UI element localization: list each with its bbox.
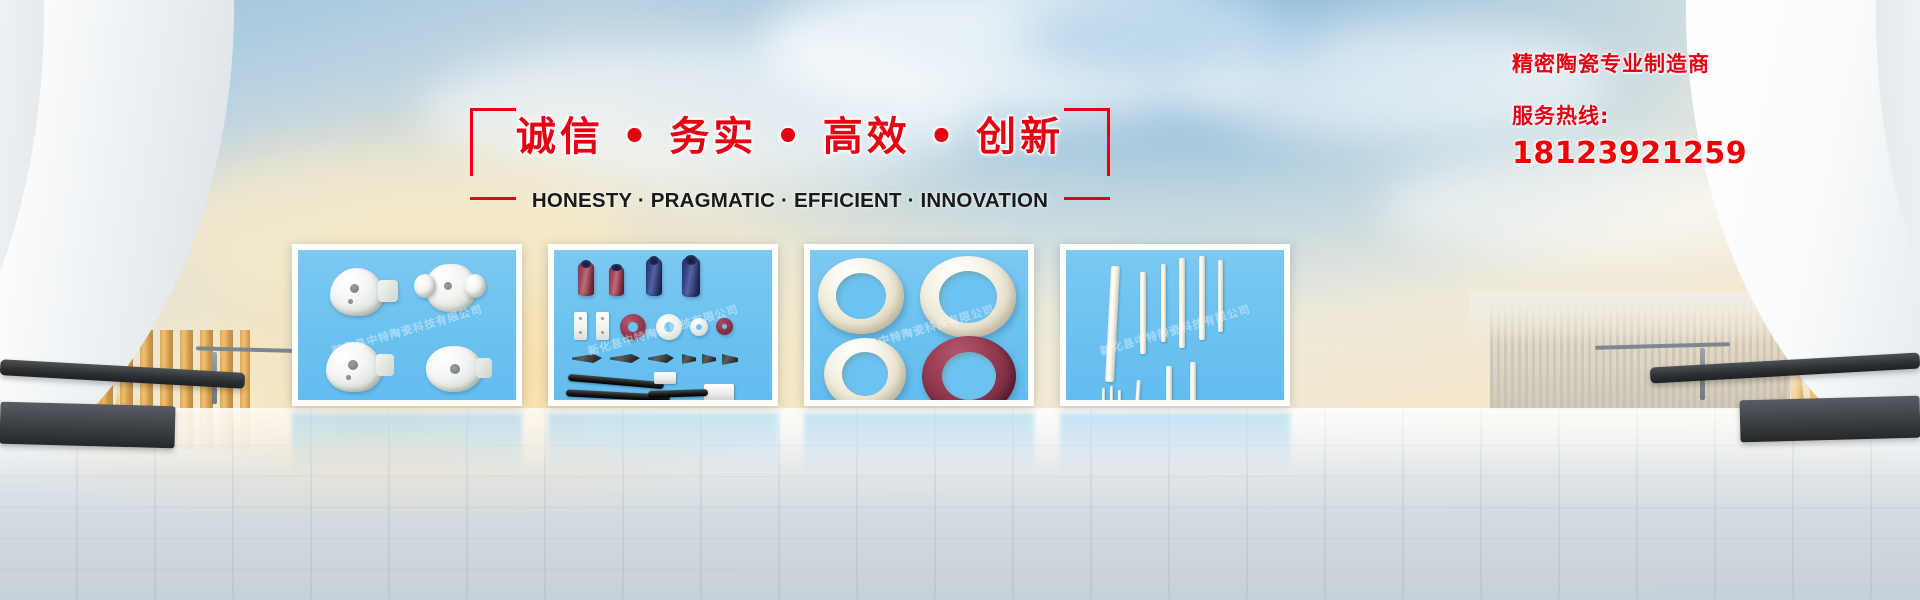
ceramic-ring-large [818,258,904,334]
ceramic-rod [1161,264,1166,342]
hotline-phone-number[interactable]: 18123921259 [1512,136,1832,171]
ceramic-pin [1118,390,1121,402]
contact-block: 精密陶瓷专业制造商 服务热线: 18123921259 [1512,48,1832,171]
ceramic-rod [1218,260,1223,332]
ceramic-insulator-stem [376,354,394,376]
ceramic-tube-navy [682,257,700,297]
ceramic-tube-navy [646,258,662,296]
cable-connector [704,384,734,401]
hero-banner: 诚信 • 务实 • 高效 • 创新 HONESTY · PRAGMATIC · … [0,0,1920,600]
panel-reflection [804,414,1034,472]
ceramic-clover-lobe [464,274,486,298]
product-panel-3[interactable]: 新化县中特陶瓷科技有限公司 [804,244,1034,406]
ceramic-pin [1190,362,1196,404]
ceramic-plate [596,312,609,340]
panel-reflection [1060,414,1290,472]
panel-reflections [292,414,1290,472]
ceramic-ring-maroon [620,314,646,340]
ceramic-pin [1102,388,1105,402]
company-tagline: 精密陶瓷专业制造商 [1512,48,1832,78]
ceramic-pin [1135,380,1141,404]
ceramic-clover-holes [444,282,452,290]
panel-background [1066,250,1284,400]
ceramic-insulator [426,346,482,392]
panel-reflection [292,414,522,472]
ceramic-rod [1140,272,1146,354]
ceramic-plate [574,312,587,340]
ceramic-rod [1179,258,1185,348]
ceramic-ring-small-white [690,318,708,336]
ceramic-insulator-stem [378,280,398,302]
ceramic-ring-small-maroon [716,318,733,335]
ceramic-insulator-stem [476,358,492,378]
ceramic-tube-red [578,262,594,296]
panel-reflection [548,414,778,472]
ceramic-insulator [326,342,382,392]
ceramic-pin [1110,386,1113,403]
slogan-chinese: 诚信 • 务实 • 高效 • 创新 [470,104,1110,162]
ceramic-pin [1166,366,1172,404]
slogan-block: 诚信 • 务实 • 高效 • 创新 HONESTY · PRAGMATIC · … [470,108,1110,200]
ceramic-clover-lobe [414,274,436,298]
ceramic-ring-white [656,314,682,340]
bench-left-base [0,402,176,449]
ceramic-ring-large [920,256,1016,338]
ceramic-tube-red [609,266,624,296]
ceramic-insulator [330,268,384,316]
product-panel-row: 新化县中特陶瓷科技有限公司 [292,244,1290,406]
bench-right-base [1739,396,1920,443]
hotline-label: 服务热线: [1512,100,1832,130]
slogan-english: HONESTY · PRAGMATIC · EFFICIENT · INNOVA… [470,189,1110,213]
product-panel-1[interactable]: 新化县中特陶瓷科技有限公司 [292,244,522,406]
cable-connector [654,372,676,384]
ceramic-ring-maroon-large [922,336,1016,406]
product-panel-4[interactable]: 新化县中特陶瓷科技有限公司 [1060,244,1290,406]
ceramic-rod [1199,256,1205,340]
product-panel-2[interactable]: 新化县中特陶瓷科技有限公司 [548,244,778,406]
ceramic-ring-large [824,338,906,406]
arch-inner-left [0,0,60,471]
